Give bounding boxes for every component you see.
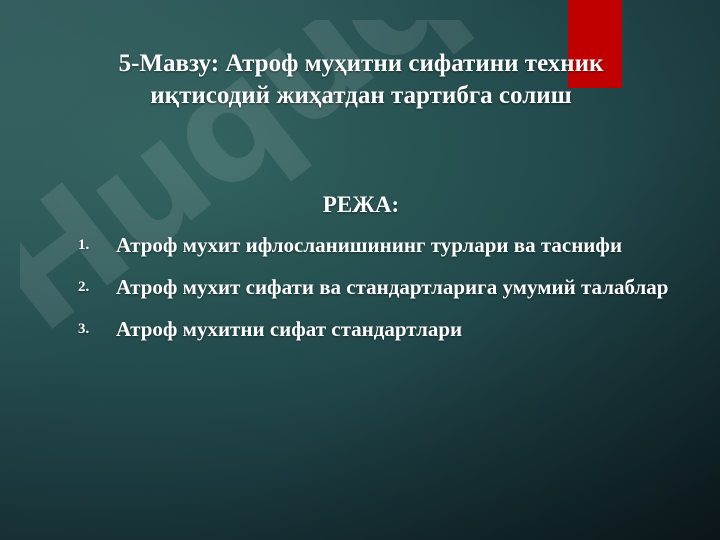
plan-list: Атроф мухит ифлосланишининг турлари ва т… (60, 232, 716, 358)
presentation-slide: Huquq 24 5-Мавзу: Атроф муҳитни сифатини… (0, 0, 720, 540)
list-item: Атроф мухит ифлосланишининг турлари ва т… (116, 232, 716, 260)
slide-title: 5-Мавзу: Атроф муҳитни сифатини техник и… (78, 48, 644, 112)
plan-heading: РЕЖА: (78, 192, 644, 218)
list-item: Атроф мухит сифати ва стандартларига уму… (116, 274, 716, 302)
list-item: Атроф мухитни сифат стандартлари (116, 316, 716, 344)
